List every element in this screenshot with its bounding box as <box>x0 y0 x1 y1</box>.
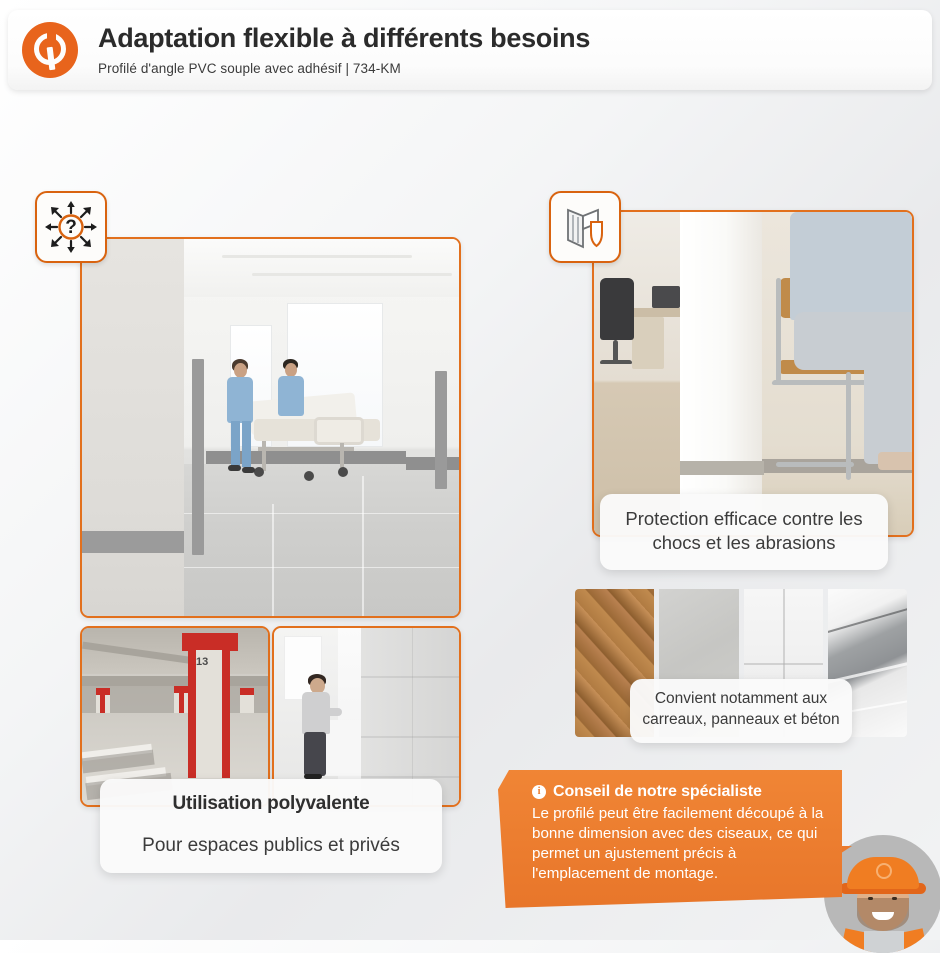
svg-text:?: ? <box>65 217 77 238</box>
page-subtitle: Profilé d'angle PVC souple avec adhésif … <box>98 61 590 76</box>
office-scene <box>594 212 912 535</box>
caption-materials: Convient notamment aux carreaux, panneau… <box>630 679 852 743</box>
hospital-scene <box>82 239 459 616</box>
avatar-helmet-logo-icon <box>876 863 892 879</box>
corner-shield-icon <box>549 191 621 263</box>
hospital-corridor <box>80 237 461 618</box>
specialist-tip-box: i Conseil de notre spécialiste Le profil… <box>498 770 842 908</box>
tip-heading-row: i Conseil de notre spécialiste <box>532 783 824 801</box>
flexible-adaptation-icon: ? <box>35 191 107 263</box>
caption-protection: Protection efficace contre les chocs et … <box>600 494 888 570</box>
tip-body: Le profilé peut être facilement découpé … <box>532 804 824 884</box>
caption-usage-title: Utilisation polyvalente <box>112 793 430 815</box>
parking-column-number: 13 <box>196 656 208 668</box>
page-header: Adaptation flexible à différents besoins… <box>8 10 932 90</box>
office-chair-corner <box>592 210 914 537</box>
page-title: Adaptation flexible à différents besoins <box>98 24 590 54</box>
brand-logo-icon <box>22 22 78 78</box>
info-icon: i <box>532 785 546 799</box>
header-text-block: Adaptation flexible à différents besoins… <box>98 24 590 77</box>
logo-notch <box>47 31 56 42</box>
caption-usage: Utilisation polyvalente Pour espaces pub… <box>100 779 442 873</box>
caption-usage-subtitle: Pour espaces publics et privés <box>112 835 430 857</box>
tip-heading: Conseil de notre spécialiste <box>553 783 762 801</box>
